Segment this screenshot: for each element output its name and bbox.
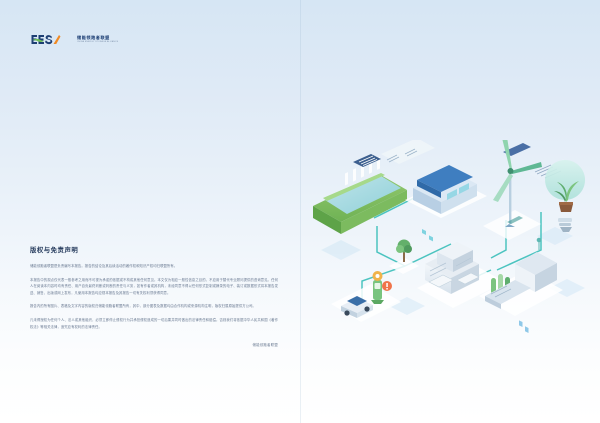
disclaimer-paragraph: 凡未得授权为任何个人、法人或其他组织，必须立即停止侵权行为并承担侵权造成的一切后… — [30, 317, 278, 330]
hydro-dam-node — [313, 156, 407, 234]
disclaimer-paragraph: 储能领跑者联盟是负责编写本报告。报告的结论及其后续活动的著作权和知识产权均归联盟… — [30, 263, 278, 270]
brand-name-cn: 储能领跑者联盟 — [77, 36, 118, 40]
disclaimer-paragraph: 本报告中的观点仅代表一般参考之用而不可视为承诺的依据或不构成其他任何意见。本文仅… — [30, 277, 278, 297]
right-page-front-cover: 2024 中国新型储能行业发展白皮书 机遇与挑战 — [300, 0, 600, 423]
brand-logo-top: 储能领跑者联盟 CHINA ENERGY STORAGE ALLIANCE — [30, 33, 118, 46]
lightbulb-plant-node — [545, 160, 585, 232]
chart-panel-icon — [353, 154, 381, 167]
smart-building-node — [405, 165, 487, 241]
cover-illustration — [301, 140, 600, 360]
disclaimer-block: 版权与免责声明 储能领跑者联盟是负责编写本报告。报告的结论及其后续活动的著作权和… — [30, 248, 278, 347]
disclaimer-signature: 储能领跑者联盟 — [30, 342, 278, 347]
left-page-back-cover: 储能领跑者联盟 CHINA ENERGY STORAGE ALLIANCE 版权… — [0, 0, 300, 423]
disclaimer-heading: 版权与免责声明 — [30, 248, 278, 254]
industrial-plant-node — [479, 238, 563, 333]
brand-logo-wordmark: 储能领跑者联盟 CHINA ENERGY STORAGE ALLIANCE — [77, 36, 118, 43]
alert-badge — [382, 281, 392, 291]
ev-charging-node — [331, 271, 401, 322]
cesa-logo-icon — [30, 33, 72, 46]
tree-marker-node — [389, 240, 419, 275]
brand-name-en: CHINA ENERGY STORAGE ALLIANCE — [77, 41, 118, 43]
dashboard-panel-icon — [381, 140, 435, 164]
disclaimer-paragraph: 报告内的所有图片、表格及文字内容的版权归储能领跑者联盟所有，其中，部分图表及数据… — [30, 303, 278, 310]
pdf-spread: 储能领跑者联盟 CHINA ENERGY STORAGE ALLIANCE 版权… — [0, 0, 600, 423]
